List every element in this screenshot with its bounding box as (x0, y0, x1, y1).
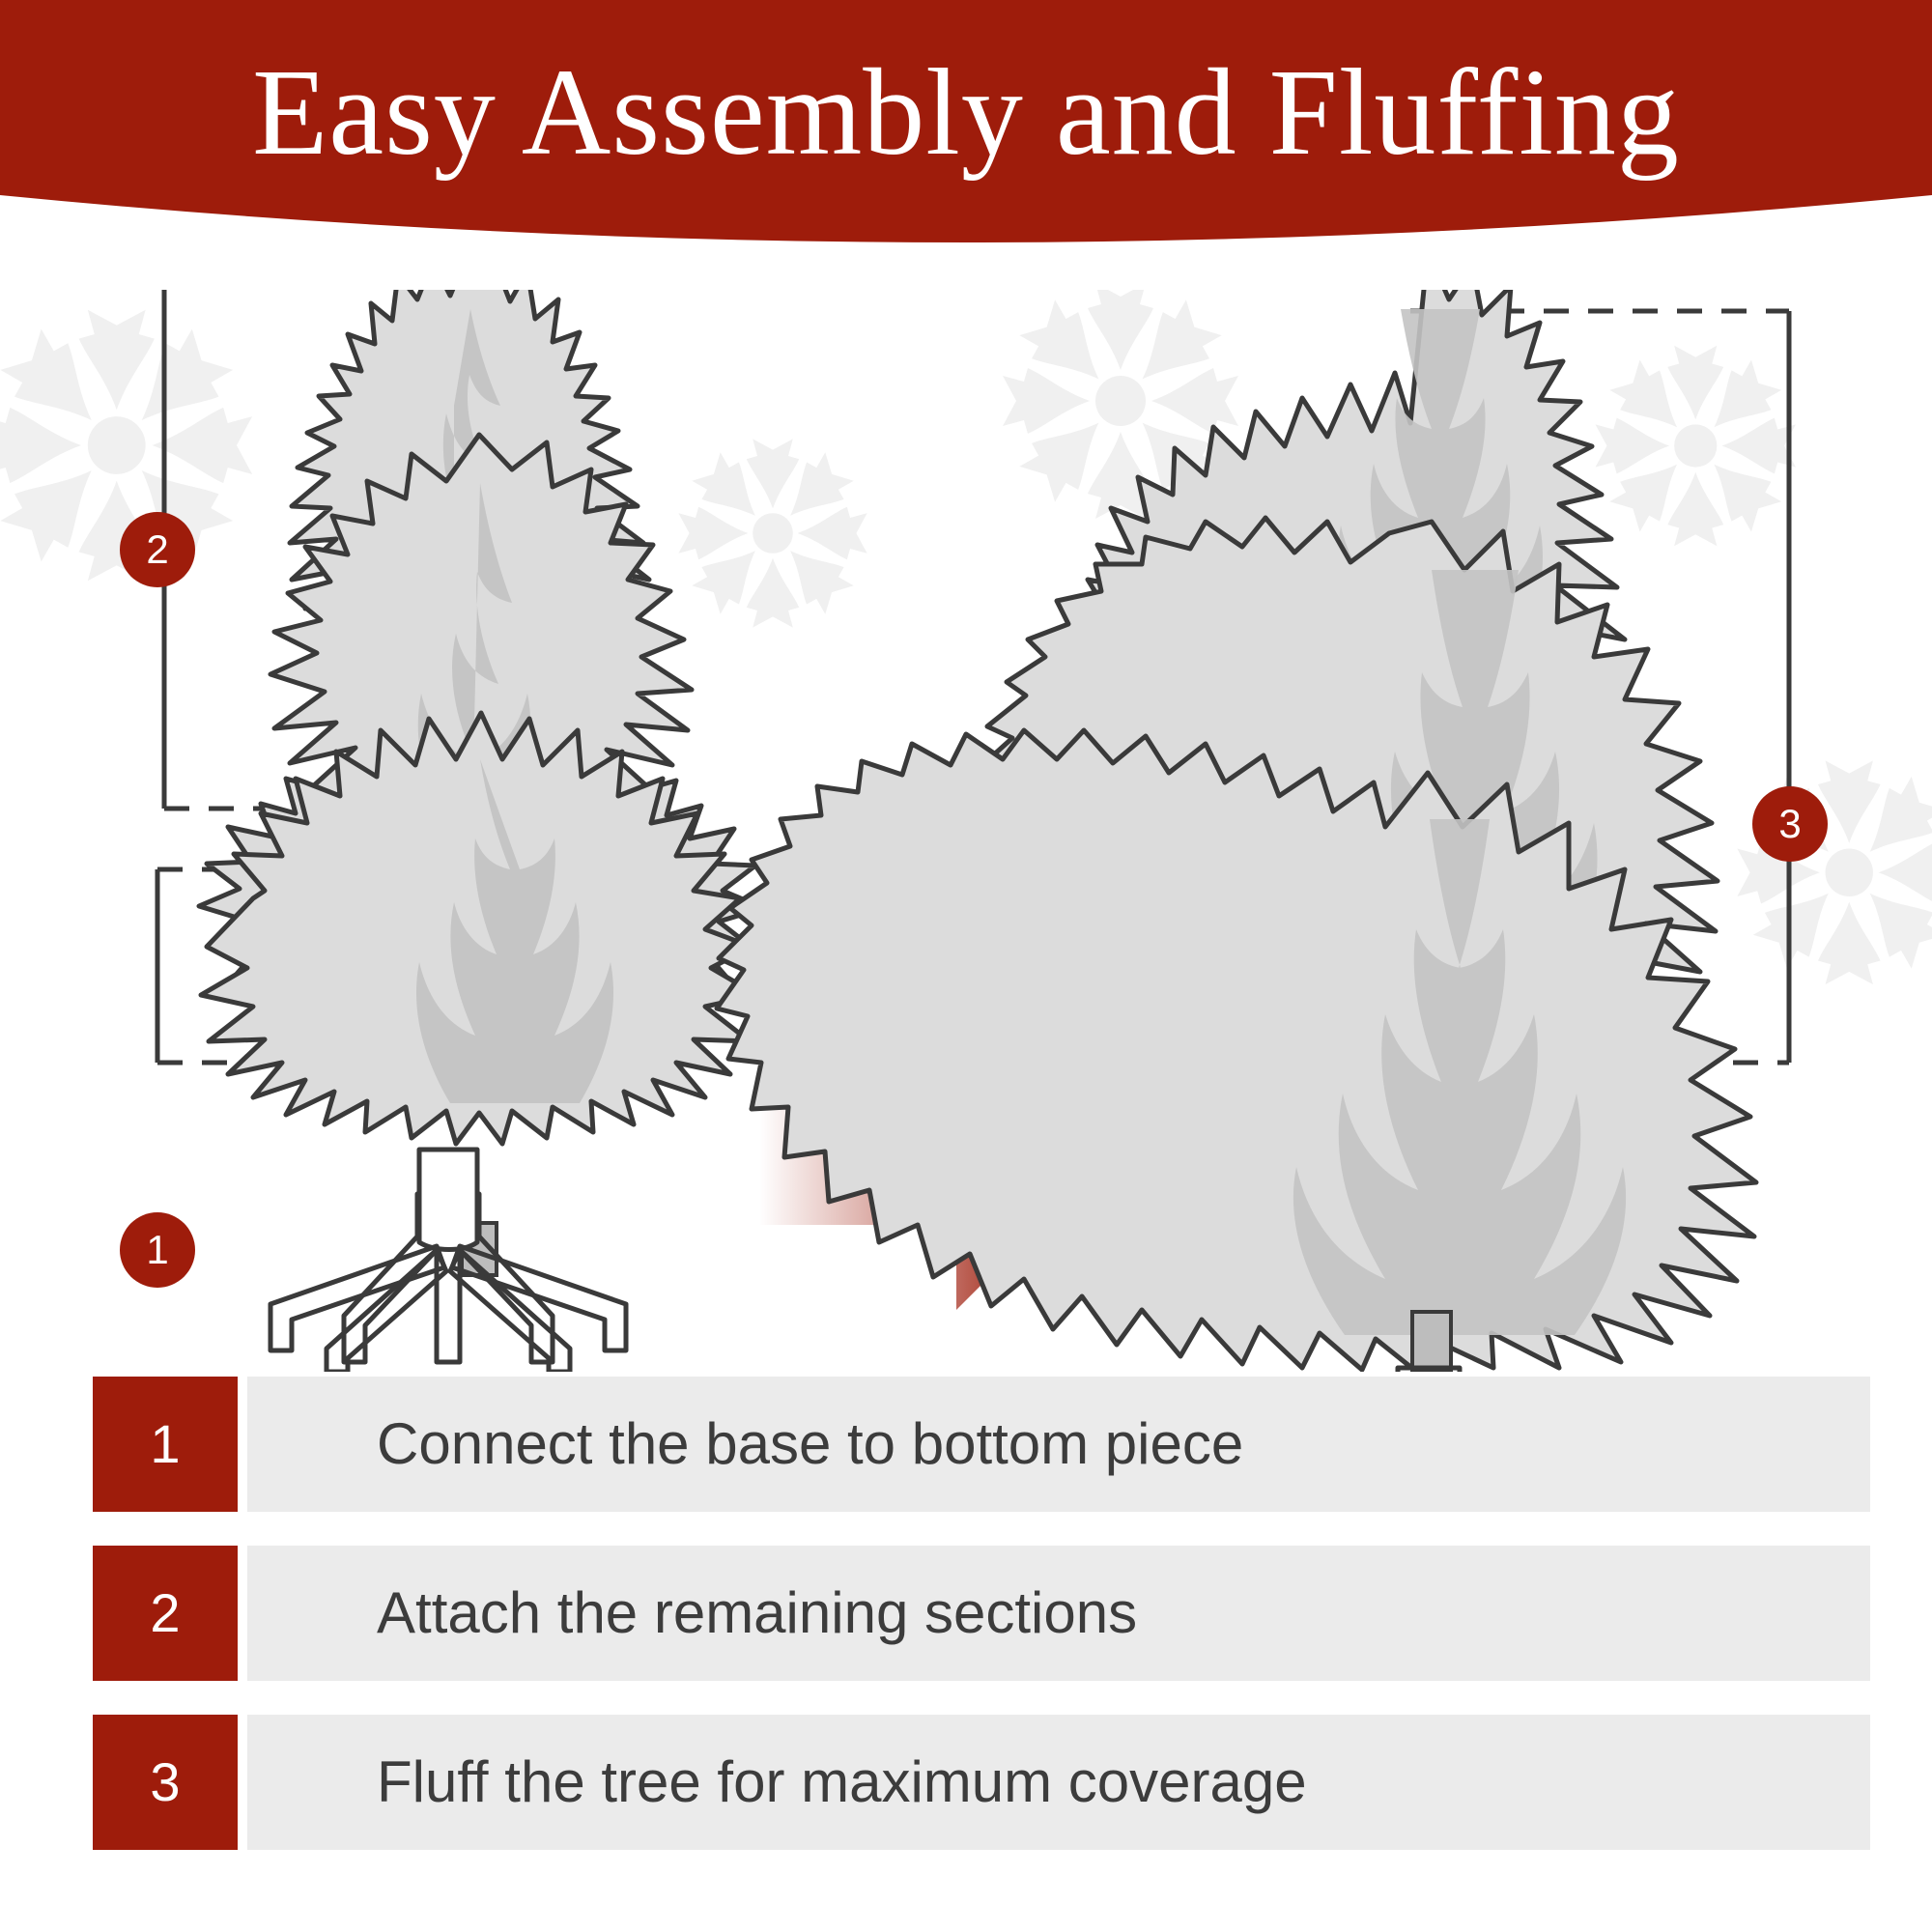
step-number-3: 3 (93, 1715, 238, 1850)
step-row-1[interactable]: 1 Connect the base to bottom piece (0, 1377, 1932, 1512)
illustration-panel: 2 1 3 (0, 290, 1932, 1372)
step-row-2[interactable]: 2 Attach the remaining sections (0, 1546, 1932, 1681)
step-text-3: Fluff the tree for maximum coverage (377, 1715, 1307, 1850)
step-text-2: Attach the remaining sections (377, 1546, 1137, 1681)
step-row-3[interactable]: 3 Fluff the tree for maximum coverage (0, 1715, 1932, 1850)
tree-stand-right (0, 290, 1932, 1372)
header-banner: Easy Assembly and Fluffing (0, 0, 1932, 290)
step-number-2: 2 (93, 1546, 238, 1681)
page-title: Easy Assembly and Fluffing (0, 44, 1932, 180)
steps-list: 1 Connect the base to bottom piece 2 Att… (0, 1377, 1932, 1884)
step-badge-3[interactable]: 3 (1752, 786, 1828, 862)
step-text-1: Connect the base to bottom piece (377, 1377, 1243, 1512)
step-badge-1[interactable]: 1 (120, 1212, 195, 1288)
step-number-1: 1 (93, 1377, 238, 1512)
step-badge-2[interactable]: 2 (120, 512, 195, 587)
